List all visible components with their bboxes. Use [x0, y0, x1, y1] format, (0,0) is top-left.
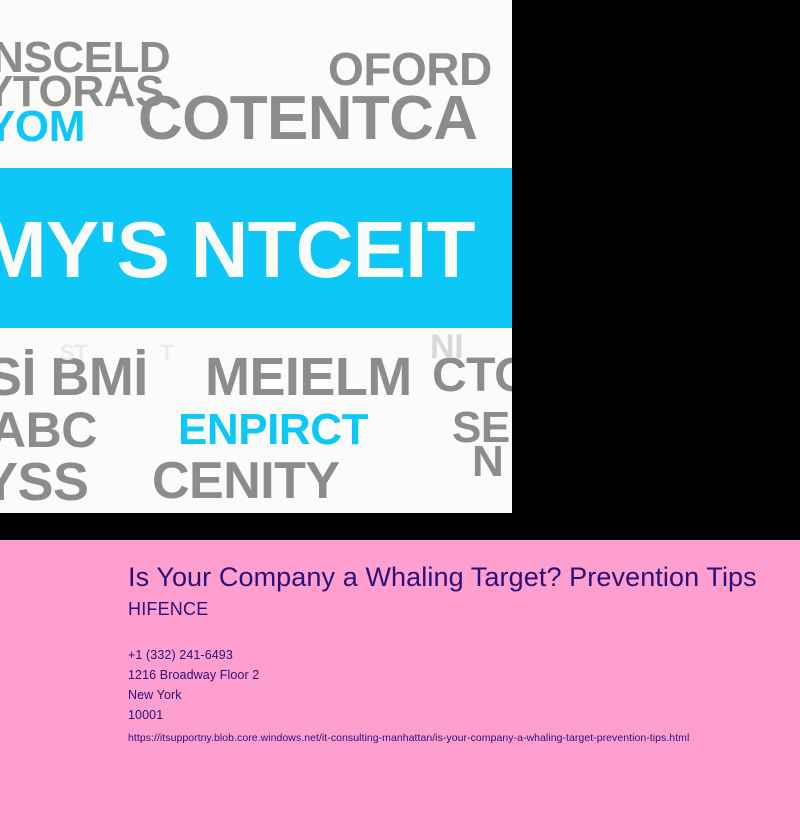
source-url-link[interactable]: https://itsupportny.blob.core.windows.ne…	[128, 731, 768, 745]
page-title: Is Your Company a Whaling Target? Preven…	[128, 562, 768, 593]
wordcloud-word: ENPIRCT	[178, 408, 368, 452]
wordcloud-word: N	[472, 440, 503, 484]
article-info-inner: Is Your Company a Whaling Target? Preven…	[128, 562, 768, 745]
wordcloud-word: T	[160, 342, 173, 364]
wordcloud-word: MEIELM	[205, 350, 412, 404]
brand-name: HIFENCE	[128, 599, 768, 621]
contact-city: New York	[128, 685, 768, 705]
wordcloud-word: MY'S NTCEIT	[0, 210, 475, 290]
wordcloud-word: CENITY	[152, 455, 340, 507]
contact-postal-code: 10001	[128, 705, 768, 725]
wordcloud-word: YOM	[0, 105, 85, 149]
wordcloud-word: ST	[60, 342, 88, 364]
hero-media-band: NSCELDYTORASYOMOFORDCOTENTCAMY'S NTCEITS…	[0, 0, 800, 540]
wordcloud-artwork: NSCELDYTORASYOMOFORDCOTENTCAMY'S NTCEITS…	[0, 0, 512, 513]
wordcloud-word: COTENTCA	[138, 88, 477, 150]
contact-street: 1216 Broadway Floor 2	[128, 665, 768, 685]
wordcloud-word: YSS	[0, 455, 88, 509]
article-info-panel: Is Your Company a Whaling Target? Preven…	[0, 540, 800, 840]
wordcloud-word: ABC	[0, 405, 97, 455]
wordcloud-word: NI	[430, 330, 463, 364]
contact-phone[interactable]: +1 (332) 241-6493	[128, 645, 768, 665]
contact-block: +1 (332) 241-6493 1216 Broadway Floor 2 …	[128, 645, 768, 725]
